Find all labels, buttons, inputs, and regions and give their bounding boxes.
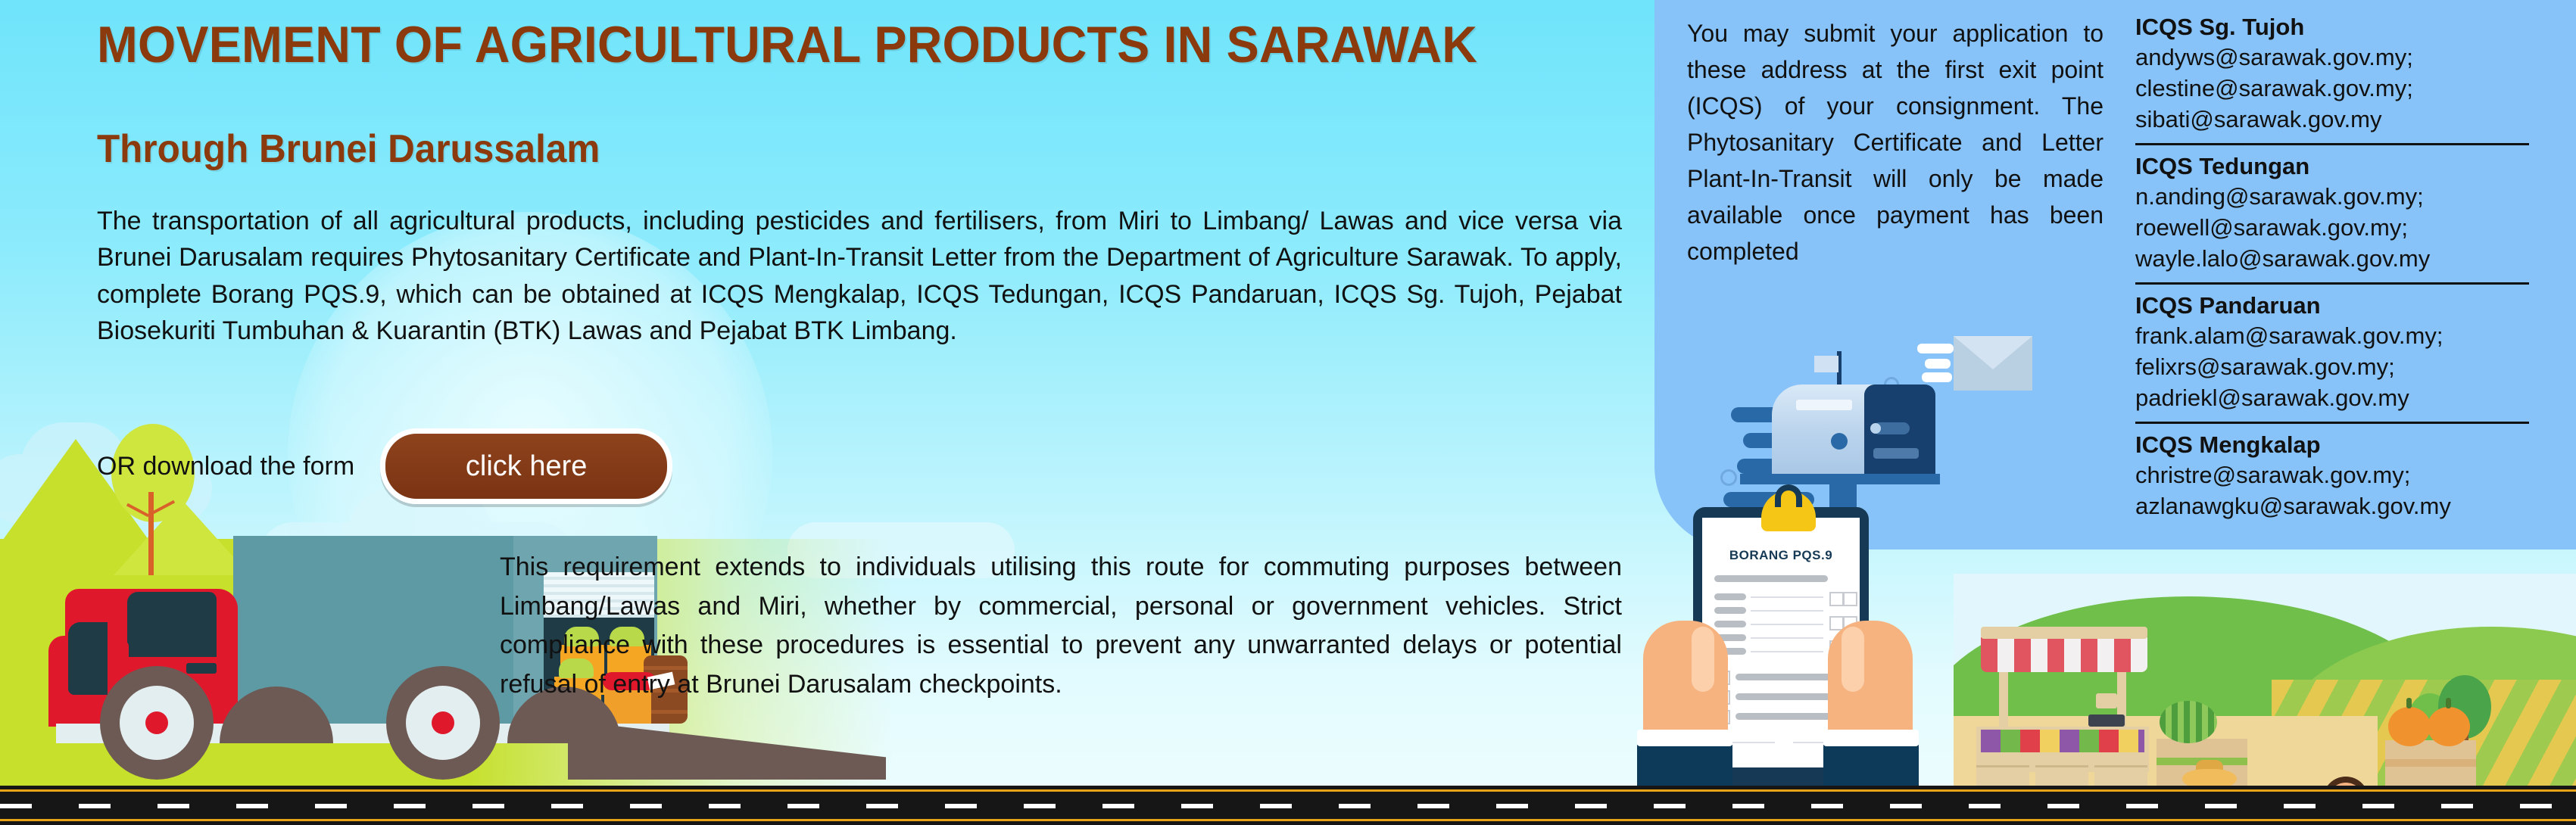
download-label: OR download the form	[97, 452, 354, 481]
pumpkin-crate	[2385, 740, 2476, 786]
mailbox-flag	[1814, 356, 1838, 372]
pumpkin-icon	[2428, 707, 2470, 746]
contact-email[interactable]: padriekl@sarawak.gov.my	[2135, 383, 2529, 414]
contact-email[interactable]: n.anding@sarawak.gov.my;	[2135, 182, 2529, 213]
main-paragraph-primary: The transportation of all agricultural p…	[97, 203, 1622, 349]
contact-email[interactable]: frank.alam@sarawak.gov.my;	[2135, 321, 2529, 352]
contact-block: ICQS Pandaruan frank.alam@sarawak.gov.my…	[2135, 282, 2529, 417]
watermelon-icon	[2160, 701, 2217, 743]
main-paragraph-secondary: This requirement extends to individuals …	[500, 548, 1622, 705]
contact-email[interactable]: sibati@sarawak.gov.my	[2135, 104, 2529, 135]
mailbox-flag-knob	[1831, 433, 1848, 450]
contact-office-name: ICQS Sg. Tujoh	[2135, 12, 2529, 42]
road-edge-line	[0, 819, 2576, 821]
contact-office-name: ICQS Mengkalap	[2135, 430, 2529, 460]
mailbox-door	[1864, 384, 1935, 475]
contact-email[interactable]: azlanawgku@sarawak.gov.my	[2135, 491, 2529, 522]
infographic-banner: MOVEMENT OF AGRICULTURAL PRODUCTS IN SAR…	[0, 0, 2576, 825]
mailbox-form-illustration: BORANG PQS.9	[1651, 318, 2007, 825]
mailbox-slot	[1796, 400, 1852, 410]
contact-block: ICQS Tedungan n.anding@sarawak.gov.my; r…	[2135, 143, 2529, 278]
contact-email[interactable]: christre@sarawak.gov.my;	[2135, 460, 2529, 491]
farmers-market-illustration	[1954, 574, 2576, 786]
contact-email[interactable]: wayle.lalo@sarawak.gov.my	[2135, 244, 2529, 275]
truck-wheel	[100, 666, 214, 780]
produce-crate	[2094, 765, 2147, 786]
contact-email[interactable]: roewell@sarawak.gov.my;	[2135, 213, 2529, 244]
contact-email[interactable]: felixrs@sarawak.gov.my;	[2135, 352, 2529, 383]
truck-windshield	[68, 622, 108, 695]
truck-door-handle	[186, 663, 217, 674]
envelope-icon	[1954, 336, 2032, 391]
contact-list: ICQS Sg. Tujoh andyws@sarawak.gov.my; cl…	[2135, 12, 2529, 525]
motion-line	[1925, 359, 1951, 369]
loading-ramp	[568, 721, 886, 780]
truck-window	[127, 592, 217, 657]
click-here-button[interactable]: click here	[380, 428, 672, 504]
truck-wheel	[386, 666, 500, 780]
decorative-circle	[1720, 469, 1737, 486]
motion-line	[1917, 344, 1954, 353]
road-edge-line	[0, 789, 2576, 792]
motion-line	[1922, 372, 1952, 382]
contact-block: ICQS Mengkalap christre@sarawak.gov.my; …	[2135, 422, 2529, 525]
page-subtitle: Through Brunei Darussalam	[97, 129, 1104, 170]
contact-office-name: ICQS Tedungan	[2135, 151, 2529, 182]
form-title: BORANG PQS.9	[1702, 548, 1860, 563]
submission-note: You may submit your application to these…	[1687, 15, 2104, 269]
road-strip	[0, 786, 2576, 825]
download-row: OR download the form click here	[97, 428, 672, 504]
pumpkin-icon	[2388, 707, 2431, 746]
page-title: MOVEMENT OF AGRICULTURAL PRODUCTS IN SAR…	[97, 18, 1550, 72]
mailbox-base	[1740, 474, 1940, 484]
road-center-dashes	[0, 804, 2576, 808]
contact-email[interactable]: clestine@sarawak.gov.my;	[2135, 73, 2529, 104]
contact-block: ICQS Sg. Tujoh andyws@sarawak.gov.my; cl…	[2135, 12, 2529, 139]
produce-crate	[2035, 765, 2088, 786]
contact-office-name: ICQS Pandaruan	[2135, 291, 2529, 321]
truck-mirror	[114, 640, 129, 672]
weighing-scale-icon	[2088, 714, 2125, 727]
contact-email[interactable]: andyws@sarawak.gov.my;	[2135, 42, 2529, 73]
